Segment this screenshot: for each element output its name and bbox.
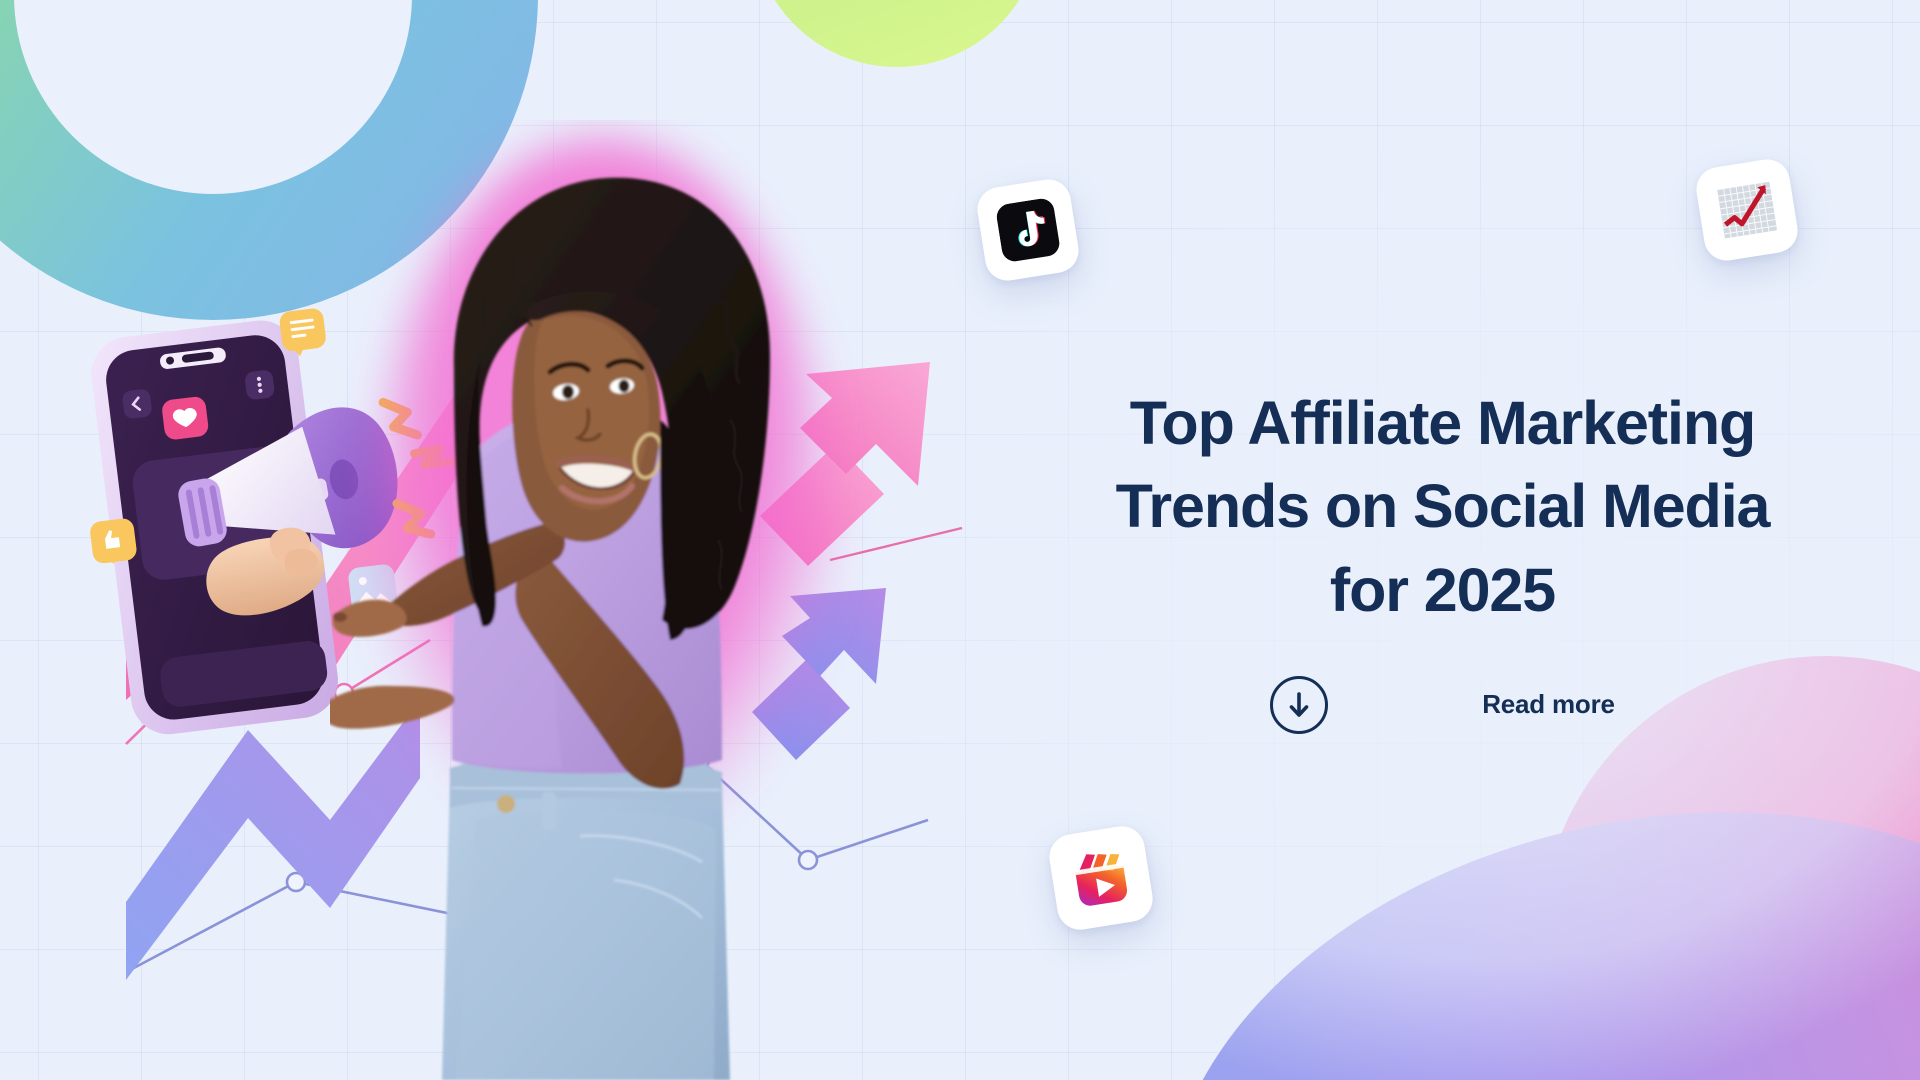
arrow-down-circle-icon[interactable] <box>1270 676 1328 734</box>
read-more-cta[interactable]: Read more <box>1000 676 1885 734</box>
chart-increasing-icon <box>1714 177 1781 244</box>
hero-banner: Top Affiliate Marketing Trends on Social… <box>0 0 1920 1080</box>
heart-reaction-icon <box>161 396 210 441</box>
tiktok-icon <box>995 197 1062 264</box>
instagram-reels-icon <box>1067 844 1135 912</box>
chart-increasing-tile[interactable] <box>1693 156 1801 264</box>
read-more-label[interactable]: Read more <box>1482 689 1615 720</box>
thumbs-up-icon <box>89 517 138 566</box>
page-title: Top Affiliate Marketing Trends on Social… <box>1000 382 1885 632</box>
instagram-reels-tile[interactable] <box>1046 823 1156 933</box>
arrow-down-glyph <box>1284 690 1314 720</box>
tiktok-tile[interactable] <box>974 176 1082 284</box>
hero-content: Top Affiliate Marketing Trends on Social… <box>1000 382 1885 734</box>
woman-figure-svg <box>330 120 890 1080</box>
woman-pointing-photo <box>330 120 890 1080</box>
